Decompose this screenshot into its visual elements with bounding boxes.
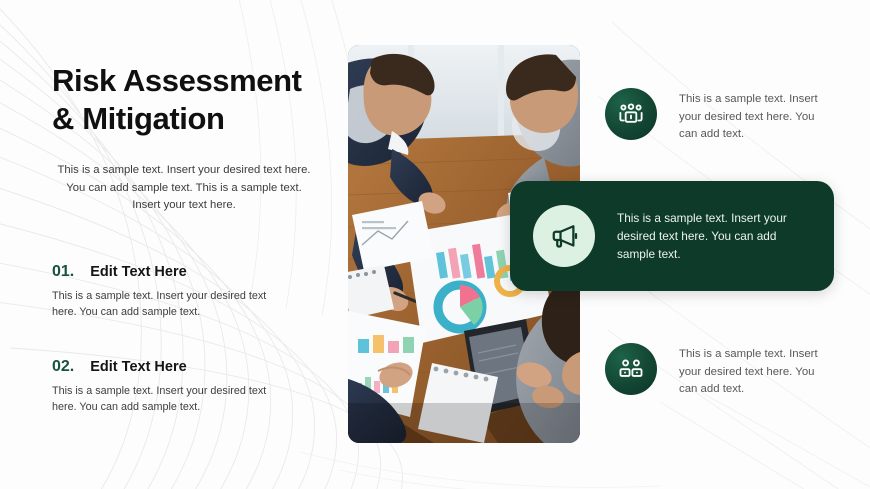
step-02-number: 02.: [52, 358, 74, 376]
feature-bottom-text: This is a sample text. Insert your desir…: [679, 343, 835, 399]
step-02-body: This is a sample text. Insert your desir…: [52, 383, 290, 415]
feature-top-text: This is a sample text. Insert your desir…: [679, 88, 835, 144]
step-01-title: Edit Text Here: [90, 264, 186, 280]
left-content-column: Risk Assessment & Mitigation This is a s…: [0, 0, 340, 489]
two-people-desks-icon-circle: [605, 343, 657, 395]
callout-text: This is a sample text. Insert your desir…: [617, 209, 801, 263]
step-02-heading: 02. Edit Text Here: [52, 358, 320, 376]
step-01-number: 01.: [52, 263, 74, 281]
page-title-line-2: & Mitigation: [52, 100, 332, 138]
step-01-body: This is a sample text. Insert your desir…: [52, 288, 290, 320]
feature-item-top[interactable]: This is a sample text. Insert your desir…: [605, 88, 835, 144]
team-group-icon-circle: [605, 88, 657, 140]
page-title-line-1: Risk Assessment: [52, 62, 332, 100]
megaphone-icon: [549, 221, 579, 251]
step-01-heading: 01. Edit Text Here: [52, 263, 320, 281]
page-title: Risk Assessment & Mitigation: [52, 62, 332, 138]
two-people-desks-icon: [618, 356, 644, 382]
slide-canvas: Risk Assessment & Mitigation This is a s…: [0, 0, 870, 489]
step-item-01[interactable]: 01. Edit Text Here This is a sample text…: [52, 263, 320, 320]
callout-card[interactable]: This is a sample text. Insert your desir…: [510, 181, 834, 291]
intro-paragraph: This is a sample text. Insert your desir…: [55, 162, 313, 215]
team-group-icon: [618, 101, 644, 127]
step-02-title: Edit Text Here: [90, 359, 186, 375]
step-item-02[interactable]: 02. Edit Text Here This is a sample text…: [52, 358, 320, 415]
feature-item-bottom[interactable]: This is a sample text. Insert your desir…: [605, 343, 835, 399]
megaphone-icon-circle: [533, 205, 595, 267]
